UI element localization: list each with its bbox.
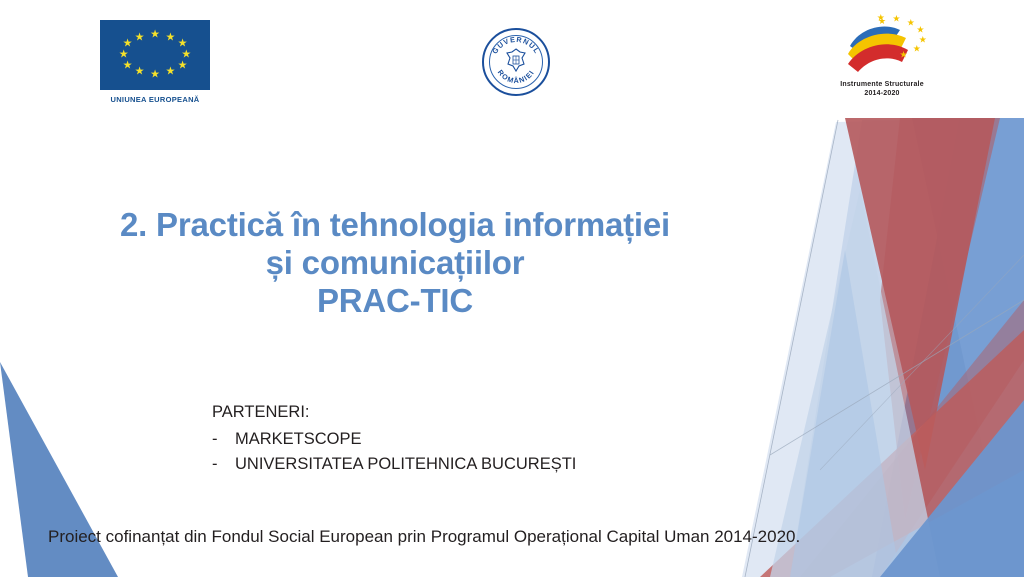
structural-caption-line-1: Instrumente Structurale <box>822 80 942 89</box>
structural-caption-line-2: 2014-2020 <box>822 89 942 98</box>
structural-funds-caption: Instrumente Structurale 2014-2020 <box>822 80 942 99</box>
partner-item: - MARKETSCOPE <box>212 427 576 453</box>
structural-funds-mark: ★ ★ ★ ★ ★ ★ ★ ★ <box>822 12 942 80</box>
deco-blue-lower-2 <box>790 250 900 577</box>
deco-hairline-1 <box>745 120 838 577</box>
deco-blue-light-1 <box>790 120 1024 577</box>
gov-seal-ring: GUVERNUL ROMÂNIEI <box>482 28 550 96</box>
partner-label: MARKETSCOPE <box>235 427 362 453</box>
deco-hairline-2 <box>770 300 1024 455</box>
instrumente-structurale-logo: ★ ★ ★ ★ ★ ★ ★ ★ Instrumente Structurale … <box>822 12 942 99</box>
partner-item: - UNIVERSITATEA POLITEHNICA BUCUREȘTI <box>212 452 576 478</box>
partner-bullet: - <box>212 427 235 453</box>
deco-red-triangle <box>845 118 995 470</box>
eu-logo-caption: UNIUNEA EUROPEANĂ <box>100 95 210 104</box>
deco-red-triangle-2 <box>880 118 1000 520</box>
slide-title: 2. Practică în tehnologia informației și… <box>0 206 790 320</box>
partners-heading: PARTENERI: <box>212 400 576 426</box>
deco-blue-pale-1 <box>742 118 1024 577</box>
title-line-1: 2. Practică în tehnologia informației <box>0 206 790 244</box>
deco-blue-lower-1 <box>770 190 940 577</box>
deco-blue-right <box>872 118 1024 577</box>
deco-red-band-2 <box>800 300 1024 577</box>
funding-footer: Proiect cofinanțat din Fondul Social Eur… <box>48 527 800 547</box>
eagle-crest-icon <box>503 47 529 77</box>
title-line-2: și comunicațiilor <box>0 244 790 282</box>
deco-blue-mid <box>912 118 1024 577</box>
deco-hairline-3 <box>820 255 1024 470</box>
logo-header: ★ ★ ★ ★ ★ ★ ★ ★ ★ ★ ★ ★ UNIUNEA EUROPEAN… <box>0 0 1024 118</box>
eu-flag-logo: ★ ★ ★ ★ ★ ★ ★ ★ ★ ★ ★ ★ UNIUNEA EUROPEAN… <box>100 20 210 104</box>
title-line-3: PRAC-TIC <box>0 282 790 320</box>
deco-pale-1 <box>700 118 1024 577</box>
deco-blue-bottom <box>880 400 1024 577</box>
guvernul-romaniei-seal: GUVERNUL ROMÂNIEI <box>482 28 550 96</box>
eu-flag-icon: ★ ★ ★ ★ ★ ★ ★ ★ ★ ★ ★ ★ <box>100 20 210 90</box>
partner-bullet: - <box>212 452 235 478</box>
partners-block: PARTENERI: - MARKETSCOPE - UNIVERSITATEA… <box>212 400 576 478</box>
partner-label: UNIVERSITATEA POLITEHNICA BUCUREȘTI <box>235 452 576 478</box>
presentation-slide: ★ ★ ★ ★ ★ ★ ★ ★ ★ ★ ★ ★ UNIUNEA EUROPEAN… <box>0 0 1024 577</box>
